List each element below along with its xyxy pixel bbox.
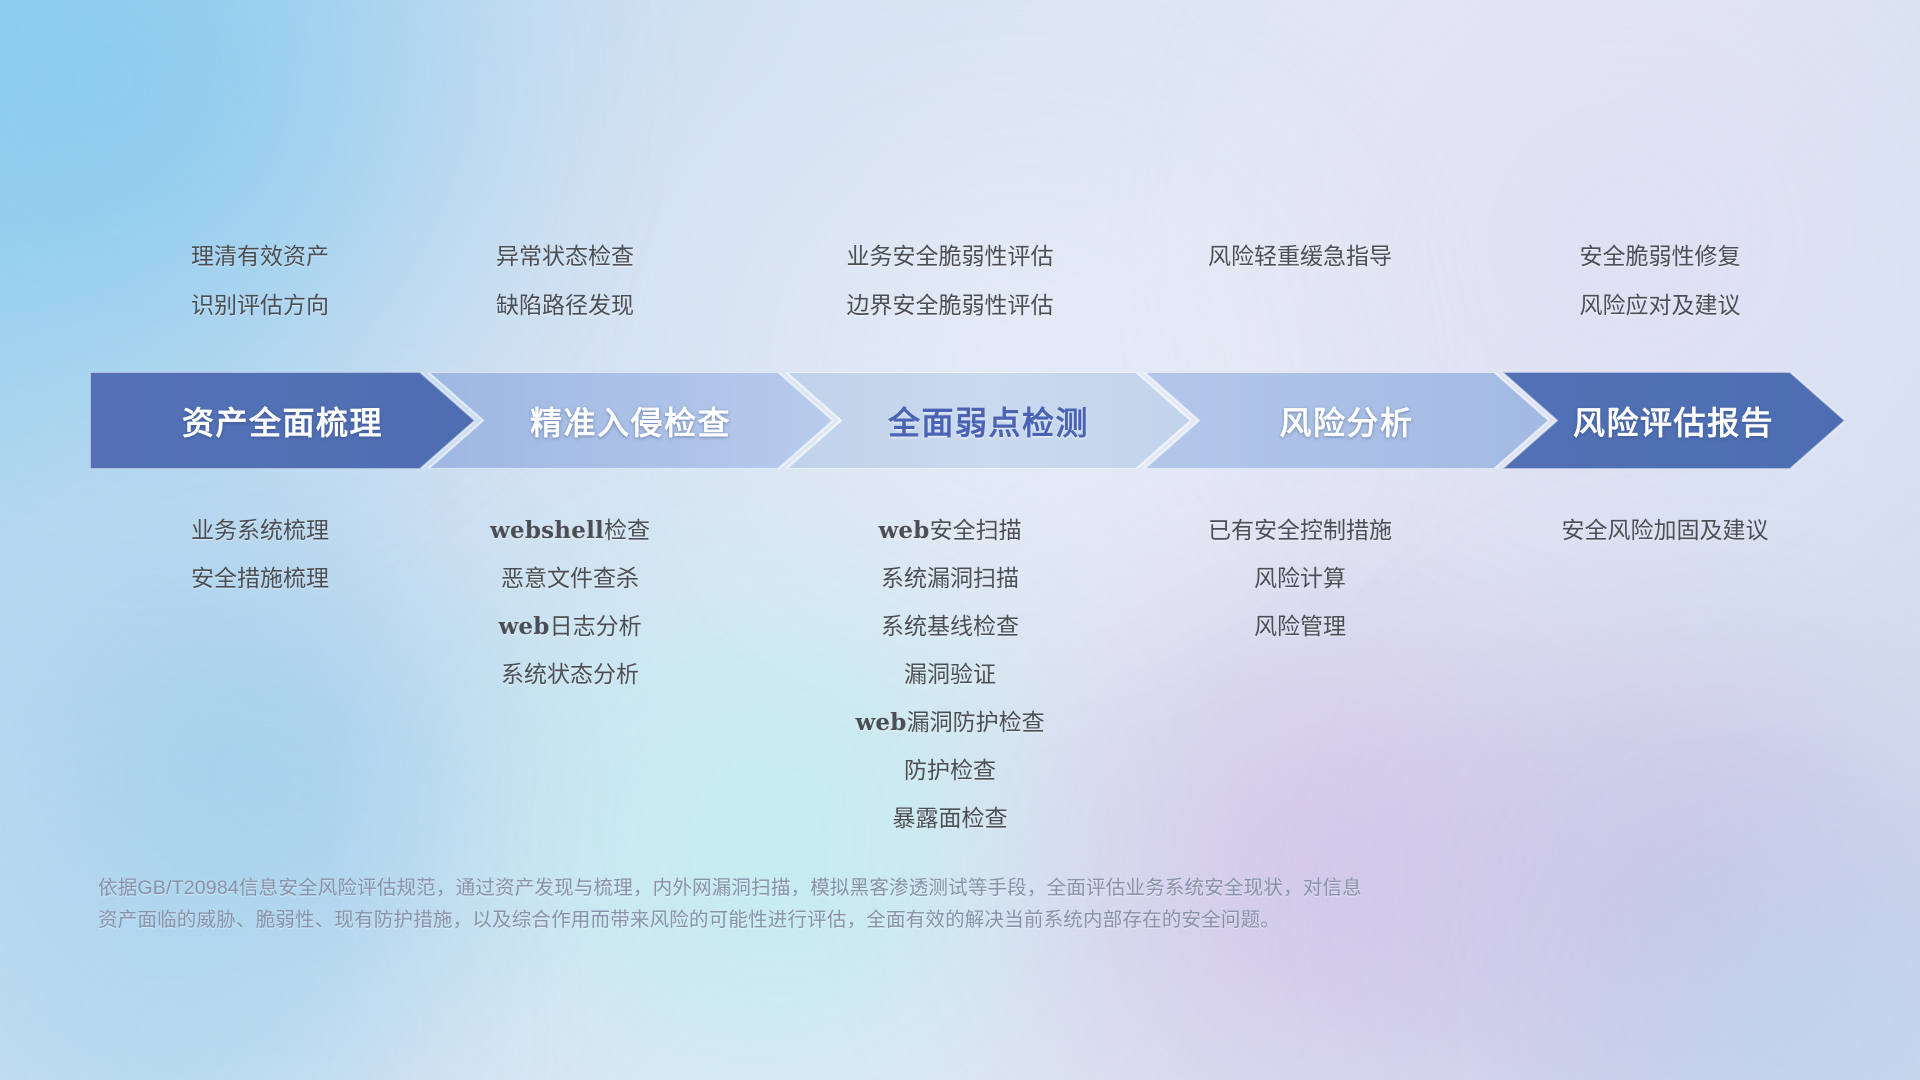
chevron-stage-5[interactable]: 风险评估报告 xyxy=(1502,372,1845,469)
footer-description: 依据GB/T20984信息安全风险评估规范，通过资产发现与梳理，内外网漏洞扫描，… xyxy=(98,872,1658,936)
top-item: 风险应对及建议 xyxy=(1490,281,1830,330)
chevron-label: 全面弱点检测 xyxy=(888,398,1089,444)
bottom-items-stage-3: web安全扫描 系统漏洞扫描 系统基线检查 漏洞验证 web漏洞防护检查 防护检… xyxy=(760,510,1140,846)
top-item: 边界安全脆弱性评估 xyxy=(760,281,1140,330)
bottom-items-stage-2: webshell检查 恶意文件查杀 web日志分析 系统状态分析 xyxy=(425,510,715,702)
bottom-items-stage-1: 业务系统梳理 安全措施梳理 xyxy=(90,510,430,606)
top-items-stage-3: 业务安全脆弱性评估 边界安全脆弱性评估 xyxy=(760,232,1140,330)
top-item: 理清有效资产 xyxy=(90,232,430,281)
chevron-stage-4[interactable]: 风险分析 xyxy=(1144,372,1549,469)
footer-line-1: 依据GB/T20984信息安全风险评估规范，通过资产发现与梳理，内外网漏洞扫描，… xyxy=(98,872,1658,904)
chevron-label: 风险分析 xyxy=(1279,398,1413,444)
bottom-item: web安全扫描 xyxy=(760,510,1140,551)
bottom-item: web日志分析 xyxy=(425,606,715,647)
chevron-label: 风险评估报告 xyxy=(1573,398,1774,444)
chevron-stage-3[interactable]: 全面弱点检测 xyxy=(786,372,1191,469)
bottom-item: 暴露面检查 xyxy=(760,798,1140,839)
slide-canvas: 理清有效资产 识别评估方向 异常状态检查 缺陷路径发现 业务安全脆弱性评估 边界… xyxy=(0,0,1920,1080)
top-items-stage-4: 风险轻重缓急指导 xyxy=(1120,232,1480,281)
top-item: 安全脆弱性修复 xyxy=(1490,232,1830,281)
bottom-item: web漏洞防护检查 xyxy=(760,702,1140,743)
chevron-label: 资产全面梳理 xyxy=(182,398,383,444)
chevron-stage-1[interactable]: 资产全面梳理 xyxy=(90,372,475,469)
top-item: 业务安全脆弱性评估 xyxy=(760,232,1140,281)
bottom-item: 系统状态分析 xyxy=(425,654,715,695)
bottom-item: 漏洞验证 xyxy=(760,654,1140,695)
top-items-stage-2: 异常状态检查 缺陷路径发现 xyxy=(425,232,705,330)
bottom-item: 防护检查 xyxy=(760,750,1140,791)
top-item: 风险轻重缓急指导 xyxy=(1120,232,1480,281)
footer-line-2: 资产面临的威胁、脆弱性、现有防护措施，以及综合作用而带来风险的可能性进行评估，全… xyxy=(98,904,1658,936)
top-item: 缺陷路径发现 xyxy=(425,281,705,330)
bottom-item: 系统基线检查 xyxy=(760,606,1140,647)
bottom-items-stage-4: 已有安全控制措施 风险计算 风险管理 xyxy=(1120,510,1480,654)
bottom-item: 安全风险加固及建议 xyxy=(1490,510,1840,551)
bottom-item: 风险计算 xyxy=(1120,558,1480,599)
top-item: 识别评估方向 xyxy=(90,281,430,330)
bottom-item: 安全措施梳理 xyxy=(90,558,430,599)
bottom-item: 风险管理 xyxy=(1120,606,1480,647)
bottom-item: 系统漏洞扫描 xyxy=(760,558,1140,599)
bottom-item: 已有安全控制措施 xyxy=(1120,510,1480,551)
top-item: 异常状态检查 xyxy=(425,232,705,281)
bottom-items-stage-5: 安全风险加固及建议 xyxy=(1490,510,1840,558)
chevron-label: 精准入侵检查 xyxy=(530,398,731,444)
bottom-item: 业务系统梳理 xyxy=(90,510,430,551)
process-chevron-band: 资产全面梳理 xyxy=(90,372,1845,469)
top-items-stage-5: 安全脆弱性修复 风险应对及建议 xyxy=(1490,232,1830,330)
top-items-stage-1: 理清有效资产 识别评估方向 xyxy=(90,232,430,330)
bottom-item: webshell检查 xyxy=(425,510,715,551)
bottom-item: 恶意文件查杀 xyxy=(425,558,715,599)
chevron-stage-2[interactable]: 精准入侵检查 xyxy=(428,372,833,469)
